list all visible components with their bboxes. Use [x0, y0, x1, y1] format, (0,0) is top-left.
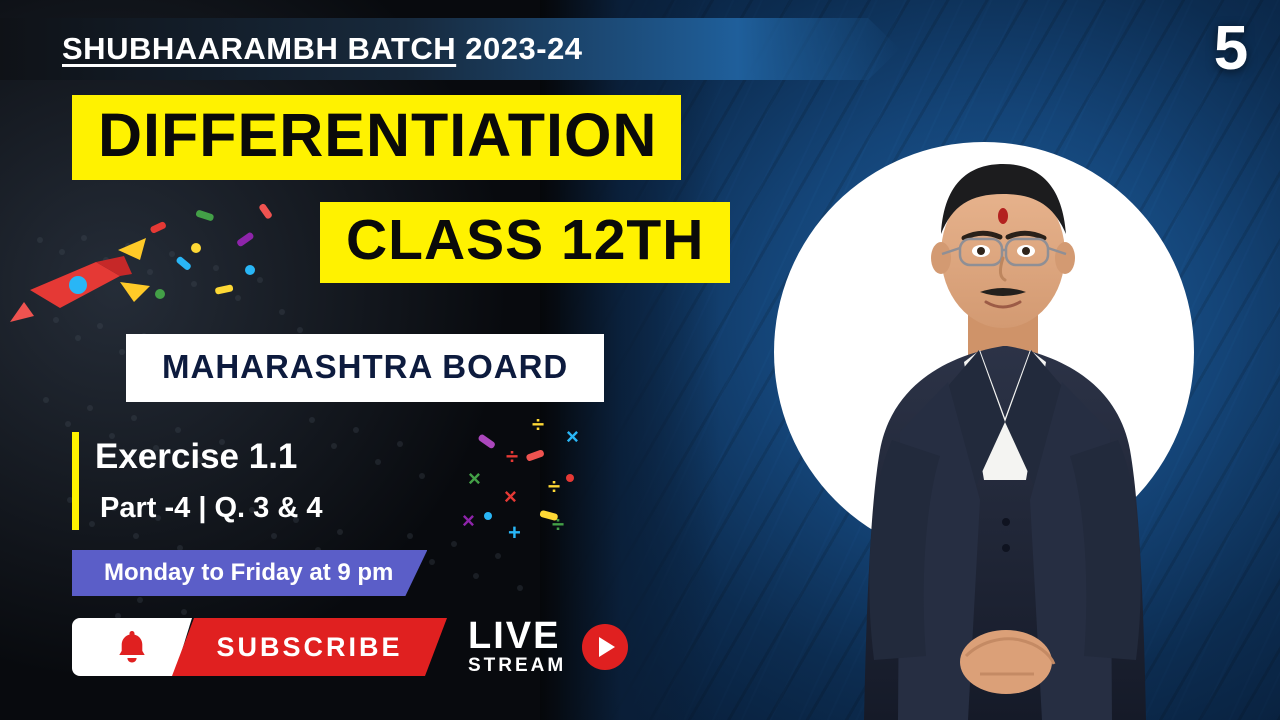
- episode-number: 5: [1198, 14, 1264, 84]
- bell-plate: [72, 618, 192, 676]
- live-stream-text: LIVE STREAM: [468, 618, 566, 675]
- svg-text:×: ×: [462, 508, 475, 533]
- exercise-title: Exercise 1.1: [95, 437, 297, 477]
- batch-title-bar: SHUBHAARAMBH BATCH 2023-24: [0, 18, 900, 80]
- math-symbols-confetti-decoration: ÷ × ÷ × × ÷ × + ÷: [448, 408, 608, 568]
- svg-text:×: ×: [504, 484, 517, 509]
- svg-text:×: ×: [468, 466, 481, 491]
- svg-text:×: ×: [566, 424, 579, 449]
- subscribe-row: SUBSCRIBE: [72, 618, 472, 676]
- exercise-accent-bar: [72, 432, 79, 530]
- board-label: MAHARASHTRA BOARD: [126, 334, 604, 402]
- batch-title-year: 2023-24: [456, 31, 582, 66]
- headline-secondary: CLASS 12TH: [320, 202, 730, 283]
- subscribe-button[interactable]: SUBSCRIBE: [172, 618, 447, 676]
- batch-title-underlined: SHUBHAARAMBH BATCH: [62, 31, 456, 66]
- stream-label: STREAM: [468, 657, 566, 675]
- svg-text:÷: ÷: [532, 412, 544, 437]
- batch-title-text: SHUBHAARAMBH BATCH 2023-24: [62, 31, 583, 67]
- headline-primary: DIFFERENTIATION: [72, 95, 681, 180]
- svg-text:÷: ÷: [548, 474, 560, 499]
- thumbnail-canvas: ÷ × ÷ × × ÷ × + ÷ SHUBHAARAMBH BATCH 202…: [0, 0, 1280, 720]
- schedule-ribbon: Monday to Friday at 9 pm: [72, 550, 427, 596]
- svg-text:+: +: [508, 520, 521, 545]
- svg-text:÷: ÷: [506, 444, 518, 469]
- live-label: LIVE: [468, 618, 560, 654]
- bell-icon: [114, 628, 150, 666]
- live-stream-badge: LIVE STREAM: [468, 618, 628, 675]
- presenter-photo: [840, 150, 1170, 720]
- play-icon[interactable]: [582, 624, 628, 670]
- exercise-subtitle: Part -4 | Q. 3 & 4: [100, 492, 322, 525]
- play-triangle: [599, 637, 615, 657]
